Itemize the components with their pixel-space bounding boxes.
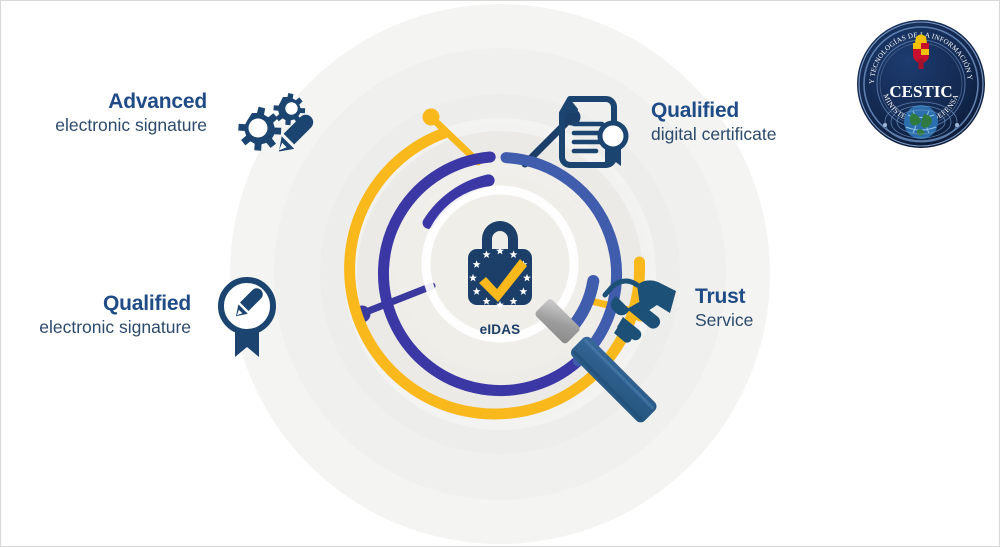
infographic-canvas: eIDAS Advanced electronic signature Qual… [0,0,1000,547]
emblem-acronym: CESTIC [889,82,952,101]
document-seal-icon [554,93,636,171]
node-heading: Qualified [1,291,191,317]
eidas-center: eIDAS [425,211,575,337]
handshake-icon [599,273,683,347]
node-heading: Advanced [11,89,207,115]
node-subheading: Service [695,310,753,331]
badge-pen-icon [209,273,285,359]
node-label-advanced-electronic-signature: Advanced electronic signature [11,89,207,136]
eidas-label: eIDAS [425,322,575,337]
padlock-eu-check-icon [448,211,552,315]
cestic-emblem: CENTRO DE SISTEMAS Y TECNOLOGÍAS DE LA I… [855,9,987,159]
node-label-trust-service: Trust Service [695,284,753,331]
node-heading: Qualified [651,98,776,124]
node-subheading: digital certificate [651,124,776,145]
node-heading: Trust [695,284,753,310]
node-subheading: electronic signature [11,115,207,136]
node-label-qualified-electronic-signature: Qualified electronic signature [1,291,191,338]
node-subheading: electronic signature [1,317,191,338]
gears-pen-icon [223,93,323,159]
node-label-qualified-digital-certificate: Qualified digital certificate [651,98,776,145]
